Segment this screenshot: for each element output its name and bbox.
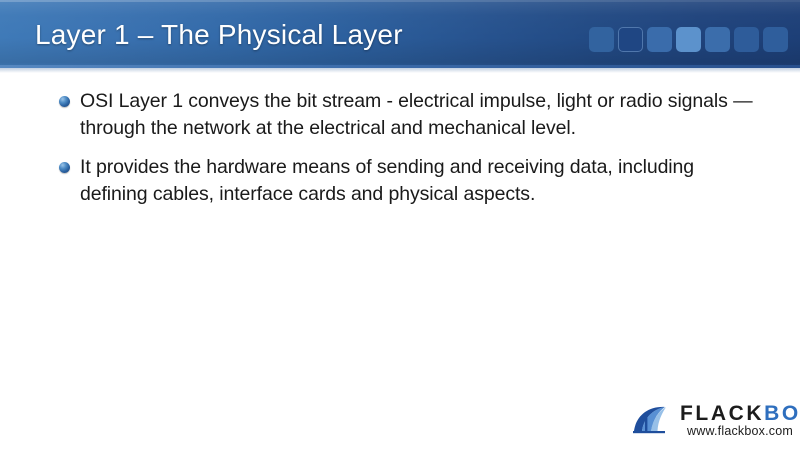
decor-square-2 <box>618 27 643 52</box>
flackbox-logo: FLACKBOX www.flackbox.com <box>632 402 792 442</box>
header-top-highlight <box>0 0 800 2</box>
slide: Layer 1 – The Physical Layer OSI Layer 1… <box>0 0 800 450</box>
decor-square-4 <box>676 27 701 52</box>
flackbox-wordmark: FLACKBOX <box>680 402 800 425</box>
header-drop-shadow <box>0 68 800 73</box>
decor-square-1 <box>589 27 614 52</box>
decor-square-5 <box>705 27 730 52</box>
bullet-list: OSI Layer 1 conveys the bit stream - ele… <box>0 88 800 208</box>
list-item: OSI Layer 1 conveys the bit stream - ele… <box>0 88 800 142</box>
bullet-sphere-icon <box>59 96 70 107</box>
decor-square-3 <box>647 27 672 52</box>
bullet-sphere-icon <box>59 162 70 173</box>
decor-square-6 <box>734 27 759 52</box>
decor-square-7 <box>763 27 788 52</box>
slide-body: OSI Layer 1 conveys the bit stream - ele… <box>0 88 800 388</box>
bullet-text: It provides the hardware means of sendin… <box>80 156 694 205</box>
header-decoration-squares <box>589 27 791 52</box>
logo-word-flack: FLACK <box>680 402 764 425</box>
slide-header: Layer 1 – The Physical Layer <box>0 0 800 68</box>
list-item: It provides the hardware means of sendin… <box>0 154 800 208</box>
logo-word-box: BOX <box>764 402 800 425</box>
page-title: Layer 1 – The Physical Layer <box>35 16 403 54</box>
logo-url-text: www.flackbox.com <box>687 424 793 438</box>
bullet-text: OSI Layer 1 conveys the bit stream - ele… <box>80 90 753 139</box>
flackbox-swoosh-icon <box>632 404 676 434</box>
